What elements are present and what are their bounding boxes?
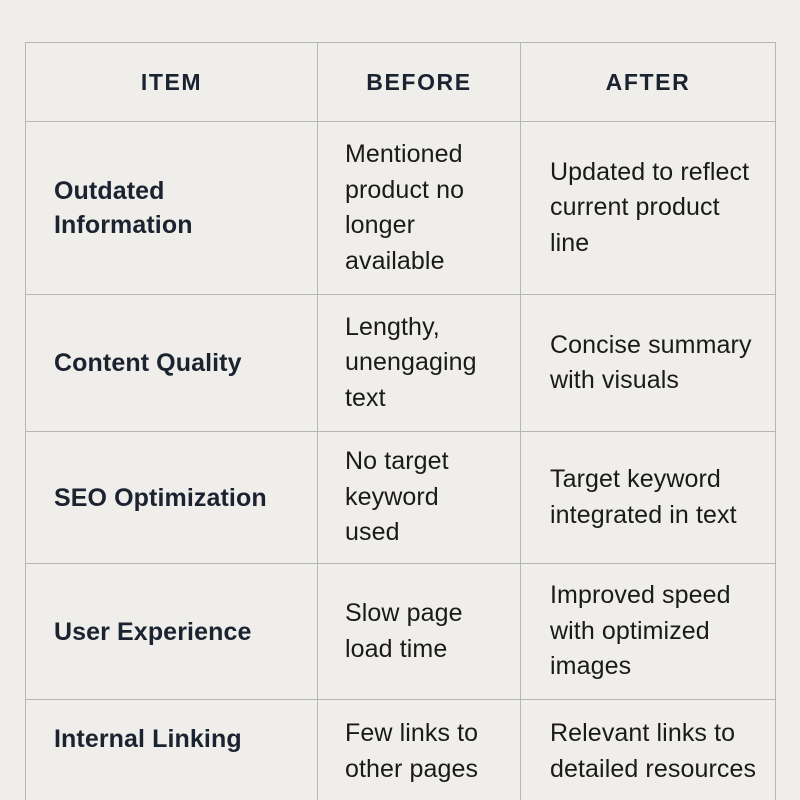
row-after-value: Target keyword integrated in text	[521, 432, 776, 564]
row-item-label: User Experience	[26, 564, 318, 700]
column-header-after: AFTER	[521, 43, 776, 122]
table-body: Outdated Information Mentioned product n…	[26, 122, 776, 800]
column-header-item: ITEM	[26, 43, 318, 122]
row-after-value: Relevant links to detailed resources	[521, 700, 776, 800]
table-header: ITEM BEFORE AFTER	[26, 43, 776, 122]
header-row: ITEM BEFORE AFTER	[26, 43, 776, 122]
row-before-value: Few links to other pages	[318, 700, 521, 800]
row-before-value: Lengthy, unengaging text	[318, 295, 521, 432]
comparison-table-page: ITEM BEFORE AFTER Outdated Information M…	[0, 0, 800, 800]
row-after-value: Updated to reflect current product line	[521, 122, 776, 295]
row-item-label: SEO Optimization	[26, 432, 318, 564]
table-row: SEO Optimization No target keyword used …	[26, 432, 776, 564]
column-header-before: BEFORE	[318, 43, 521, 122]
row-item-label: Outdated Information	[26, 122, 318, 295]
table-row: Internal Linking Few links to other page…	[26, 700, 776, 800]
table-row: Outdated Information Mentioned product n…	[26, 122, 776, 295]
row-after-value: Improved speed with optimized images	[521, 564, 776, 700]
row-item-label: Internal Linking	[26, 700, 318, 800]
row-before-value: Slow page load time	[318, 564, 521, 700]
table-row: Content Quality Lengthy, unengaging text…	[26, 295, 776, 432]
content-audit-table: ITEM BEFORE AFTER Outdated Information M…	[25, 42, 776, 800]
row-item-label: Content Quality	[26, 295, 318, 432]
row-before-value: No target keyword used	[318, 432, 521, 564]
table-row: User Experience Slow page load time Impr…	[26, 564, 776, 700]
row-before-value: Mentioned product no longer available	[318, 122, 521, 295]
row-after-value: Concise summary with visuals	[521, 295, 776, 432]
